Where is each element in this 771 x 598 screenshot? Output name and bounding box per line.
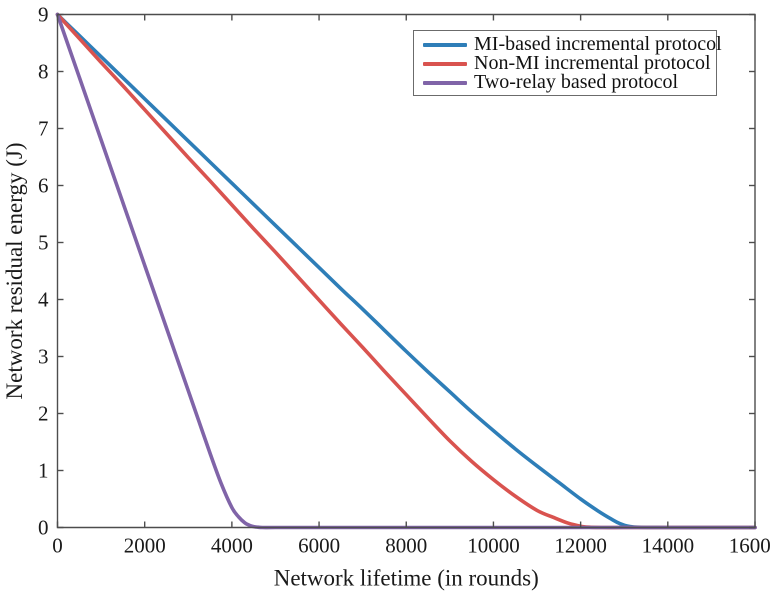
x-tick-label: 10000 [467, 534, 520, 558]
x-tick-label: 16000 [729, 534, 771, 558]
chart-figure: 0200040006000800010000120001400016000012… [0, 0, 771, 598]
legend-label-two-relay: Two-relay based protocol [474, 73, 678, 92]
y-tick-label: 9 [38, 3, 49, 27]
x-tick-label: 2000 [124, 534, 166, 558]
x-tick-label: 8000 [385, 534, 427, 558]
y-tick-label: 3 [38, 345, 49, 369]
x-tick-label: 4000 [211, 534, 253, 558]
y-tick-label: 7 [38, 117, 49, 141]
x-tick-label: 6000 [298, 534, 340, 558]
y-tick-label: 4 [38, 288, 49, 312]
x-tick-label: 0 [52, 534, 63, 558]
y-tick-label: 2 [38, 402, 49, 426]
y-tick-label: 0 [38, 516, 49, 540]
legend-swatch-two-relay [423, 81, 467, 85]
chart-legend: MI-based incremental protocol Non-MI inc… [413, 30, 717, 96]
y-tick-label: 6 [38, 174, 49, 198]
y-tick-label: 8 [38, 60, 49, 84]
y-axis-title: Network residual energy (J) [2, 143, 27, 400]
y-tick-label: 1 [38, 459, 49, 483]
x-tick-label: 12000 [554, 534, 607, 558]
y-tick-label: 5 [38, 231, 49, 255]
legend-swatch-mi-based [423, 43, 467, 47]
x-tick-label: 14000 [642, 534, 695, 558]
legend-swatch-non-mi [423, 62, 467, 66]
x-axis-title: Network lifetime (in rounds) [274, 566, 539, 591]
legend-item: Two-relay based protocol [420, 73, 710, 92]
